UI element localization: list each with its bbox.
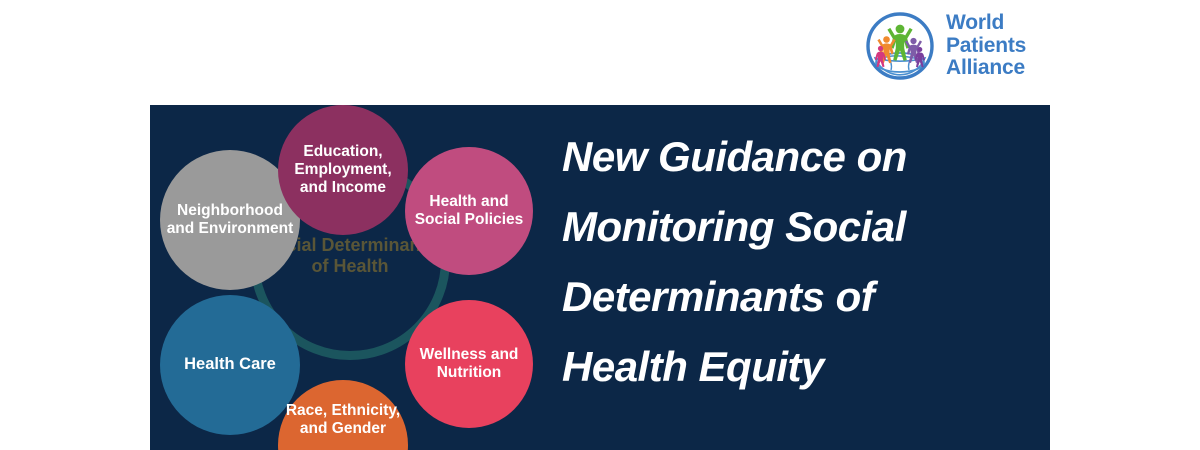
bubble-education[interactable]: Education, Employment, and Income [278, 105, 408, 235]
brand-name-line-3: Alliance [946, 57, 1026, 80]
bubble-health-social-policies-label: Health and Social Policies [405, 193, 533, 229]
bubble-race-ethnicity-gender[interactable]: Race, Ethnicity, and Gender [278, 380, 408, 450]
bubble-race-ethnicity-gender-label: Race, Ethnicity, and Gender [278, 402, 408, 438]
page-title-line-3: Determinants of [562, 262, 1042, 332]
bubble-education-label: Education, Employment, and Income [278, 143, 408, 197]
page-title-line-4: Health Equity [562, 332, 1042, 402]
brand-logo[interactable]: World Patients Alliance [864, 6, 1049, 94]
bubble-health-care-label: Health Care [178, 355, 282, 374]
banner-panel: Social Determinants of Health Neighborho… [150, 105, 1050, 450]
bubble-health-social-policies[interactable]: Health and Social Policies [405, 147, 533, 275]
page-title-line-2: Monitoring Social [562, 192, 1042, 262]
bubble-neighborhood-label: Neighborhood and Environment [160, 202, 300, 238]
bubble-wellness-nutrition[interactable]: Wellness and Nutrition [405, 300, 533, 428]
banner-graphic: World Patients Alliance Social Determina… [0, 0, 1200, 450]
page-title: New Guidance on Monitoring Social Determ… [562, 122, 1042, 402]
social-determinants-diagram: Social Determinants of Health Neighborho… [150, 105, 550, 450]
brand-name-line-2: Patients [946, 35, 1026, 58]
brand-name-line-1: World [946, 12, 1026, 35]
bubble-wellness-nutrition-label: Wellness and Nutrition [405, 346, 533, 382]
world-patients-alliance-emblem-icon [864, 10, 936, 82]
brand-name: World Patients Alliance [946, 12, 1026, 80]
page-title-line-1: New Guidance on [562, 122, 1042, 192]
